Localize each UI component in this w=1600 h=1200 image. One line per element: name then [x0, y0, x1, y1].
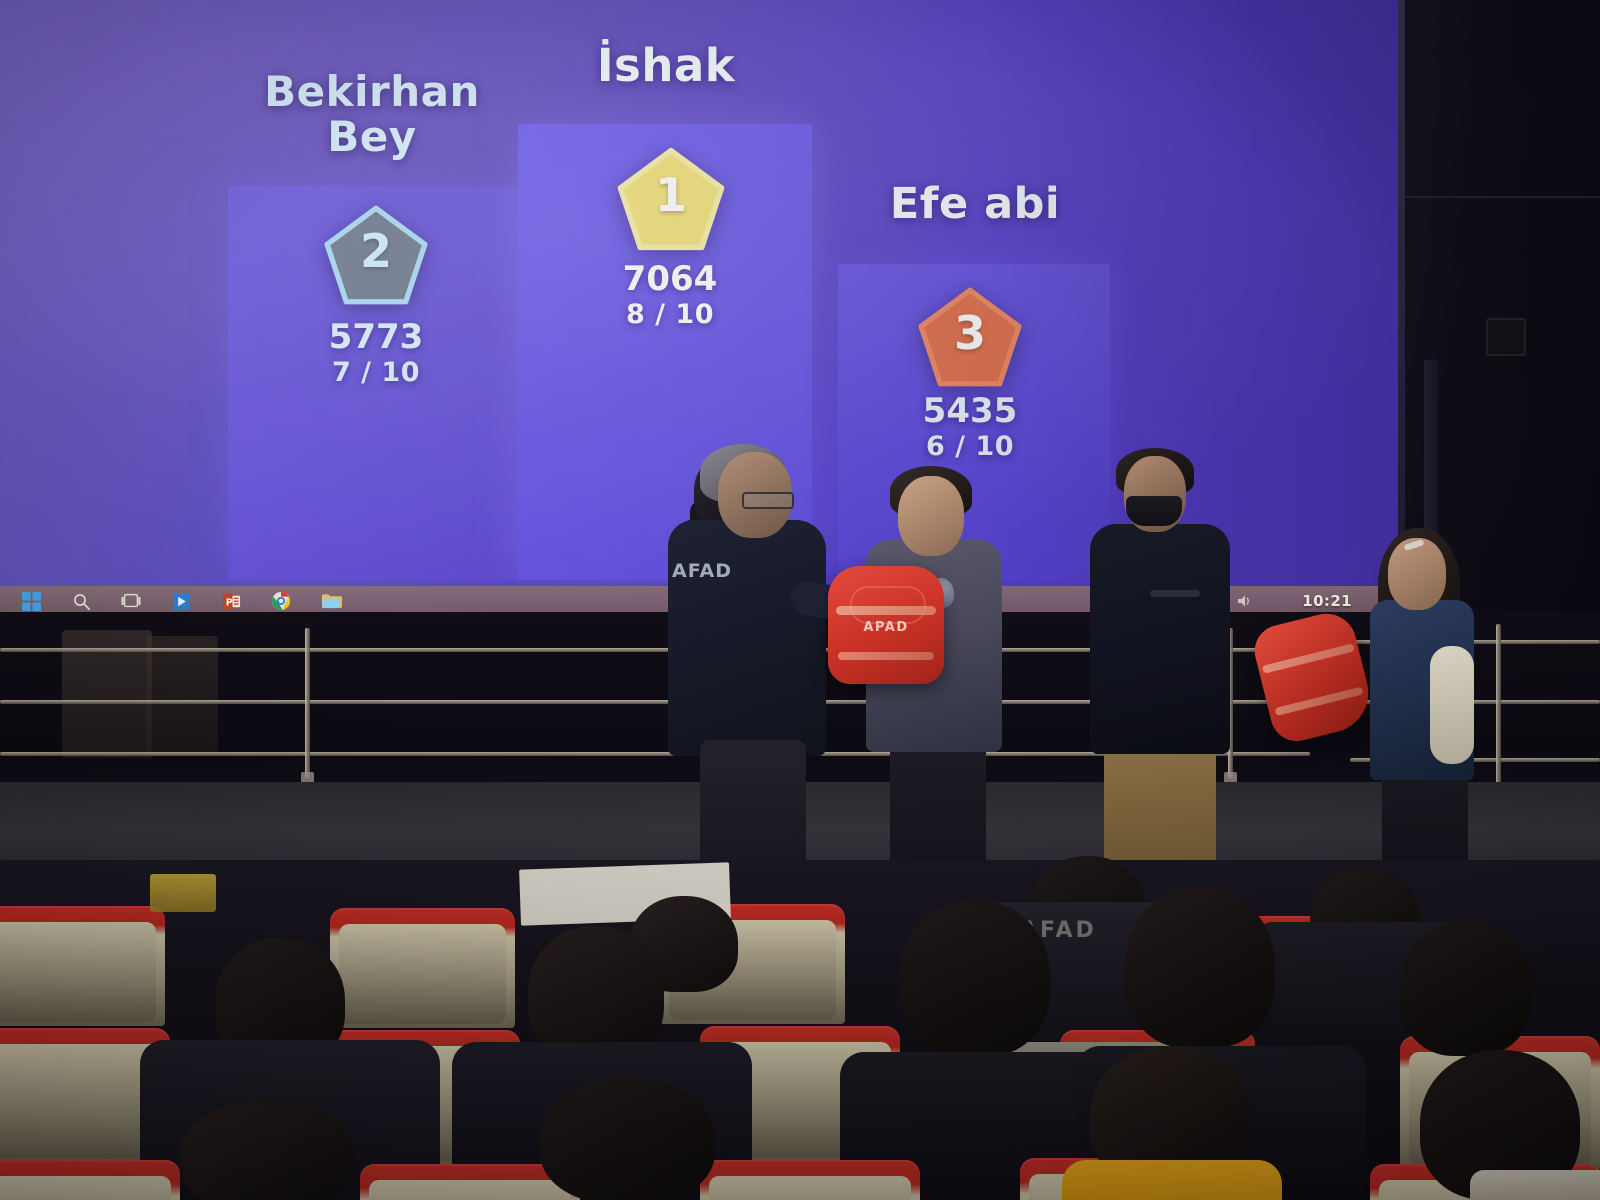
exit-sign-icon: [1486, 318, 1526, 356]
audience-scarf: [1470, 1170, 1600, 1200]
player-name-1: İshak: [516, 42, 816, 90]
audience-yellow-shirt: [1062, 1160, 1282, 1200]
red-backpack: APAD: [828, 566, 944, 684]
score-correct-1: 8 / 10: [540, 299, 800, 330]
audience-head: [180, 1100, 355, 1200]
score-points-2: 5773: [246, 318, 506, 357]
seat: [700, 1160, 920, 1200]
railing-post: [1496, 624, 1501, 784]
player-name-3: Efe abi: [832, 182, 1118, 228]
taskbar-clock[interactable]: 10:21: [1302, 592, 1352, 610]
seat: [0, 906, 165, 1026]
score-block-3: 5435 6 / 10: [840, 392, 1100, 463]
score-correct-3: 6 / 10: [840, 431, 1100, 462]
player-name-2: Bekirhan Bey: [222, 70, 522, 159]
wall-trim-line: [1404, 196, 1600, 198]
backpack-label: APAD: [828, 620, 944, 635]
svg-text:P: P: [225, 597, 232, 608]
wall-placard: [150, 874, 216, 912]
auditorium-photo: Bekirhan Bey 2 5773 7 / 10 İshak 1: [0, 0, 1600, 1200]
face-mask-icon: [1126, 496, 1182, 526]
seat: [0, 1160, 180, 1200]
audience-head: [540, 1078, 715, 1200]
glasses-icon: [742, 492, 794, 509]
seat: [330, 908, 515, 1028]
audience-head: [1400, 922, 1532, 1056]
rank-number-3: 3: [916, 286, 1024, 388]
score-points-3: 5435: [840, 392, 1100, 431]
rank-number-1: 1: [616, 146, 726, 252]
audience-seating: AFAD: [0, 860, 1600, 1200]
railing-post: [305, 628, 310, 778]
rank-number-2: 2: [322, 204, 430, 306]
audience-head: [900, 900, 1050, 1056]
volume-icon[interactable]: [1236, 592, 1254, 610]
score-block-2: 5773 7 / 10: [246, 318, 506, 389]
rank-badge-3: 3: [916, 286, 1024, 388]
rank-badge-1: 1: [616, 146, 726, 252]
score-block-1: 7064 8 / 10: [540, 260, 800, 331]
score-correct-2: 7 / 10: [246, 357, 506, 388]
rank-badge-2: 2: [322, 204, 430, 306]
background-chair: [146, 636, 218, 756]
score-points-1: 7064: [540, 260, 800, 299]
audience-head: [1125, 888, 1275, 1048]
afad-jacket-text: AFAD: [672, 560, 738, 586]
